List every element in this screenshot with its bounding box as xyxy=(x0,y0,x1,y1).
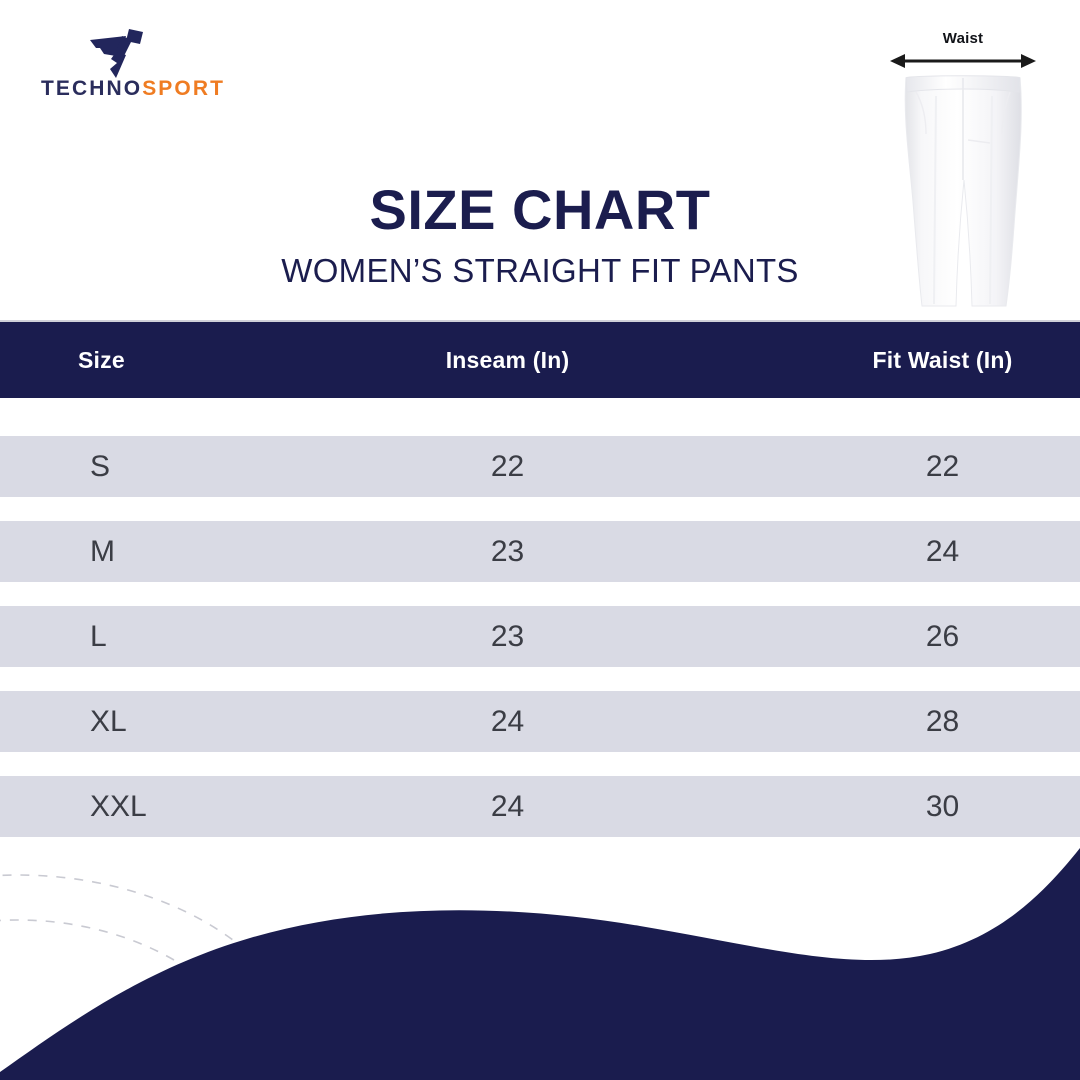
table-row: XXL 24 30 xyxy=(0,776,1080,837)
cell-inseam: 23 xyxy=(210,620,805,654)
table-body: S 22 22 M 23 24 L 23 26 XL 24 28 XXL 24 … xyxy=(0,398,1080,837)
table-row: L 23 26 xyxy=(0,606,1080,667)
brand-wordmark-sport: SPORT xyxy=(142,77,225,100)
brand-wordmark: TECHNOSPORT xyxy=(18,78,248,99)
cell-inseam: 24 xyxy=(210,705,805,739)
table-row: XL 24 28 xyxy=(0,691,1080,752)
cell-inseam: 24 xyxy=(210,790,805,824)
column-header-fit-waist: Fit Waist (In) xyxy=(805,347,1080,374)
cell-fit-waist: 30 xyxy=(805,790,1080,824)
column-header-size: Size xyxy=(0,347,210,374)
cell-inseam: 23 xyxy=(210,535,805,569)
column-header-inseam: Inseam (In) xyxy=(210,347,805,374)
athlete-logo-icon xyxy=(86,26,148,78)
navy-wave-shape xyxy=(0,848,1080,1080)
cell-size: S xyxy=(0,450,210,484)
pants-illustration: Waist xyxy=(868,30,1058,315)
brand-logo: TECHNOSPORT xyxy=(18,26,248,114)
dashed-arcs xyxy=(0,875,318,1080)
pants-graphic xyxy=(868,30,1058,315)
table-row: M 23 24 xyxy=(0,521,1080,582)
cell-size: XXL xyxy=(0,790,210,824)
cell-fit-waist: 28 xyxy=(805,705,1080,739)
double-headed-arrow-icon xyxy=(890,54,1036,68)
cell-size: M xyxy=(0,535,210,569)
cell-fit-waist: 24 xyxy=(805,535,1080,569)
table-row: S 22 22 xyxy=(0,436,1080,497)
cell-fit-waist: 22 xyxy=(805,450,1080,484)
table-header-row: Size Inseam (In) Fit Waist (In) xyxy=(0,320,1080,398)
size-chart-table: Size Inseam (In) Fit Waist (In) S 22 22 … xyxy=(0,320,1080,861)
cell-inseam: 22 xyxy=(210,450,805,484)
cell-fit-waist: 26 xyxy=(805,620,1080,654)
cell-size: XL xyxy=(0,705,210,739)
cell-size: L xyxy=(0,620,210,654)
waist-measure-label: Waist xyxy=(868,30,1058,47)
brand-wordmark-techno: TECHNO xyxy=(41,77,142,100)
